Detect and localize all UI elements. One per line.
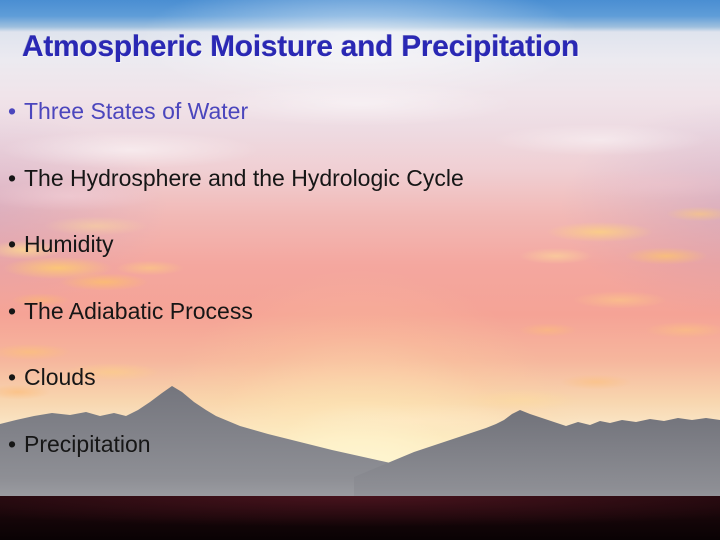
- bullet-item-humidity[interactable]: • Humidity: [0, 229, 720, 296]
- bullet-list: • Three States of Water • The Hydrospher…: [0, 96, 720, 495]
- bullet-label: The Hydrosphere and the Hydrologic Cycle: [24, 163, 464, 193]
- bullet-label: Clouds: [24, 362, 96, 392]
- foreground-band: [0, 496, 720, 540]
- foreground-glow: [0, 496, 720, 540]
- bullet-glyph-icon: •: [8, 296, 16, 326]
- presentation-slide: Atmospheric Moisture and Precipitation •…: [0, 0, 720, 540]
- bullet-label: Precipitation: [24, 429, 151, 459]
- slide-title: Atmospheric Moisture and Precipitation: [22, 30, 712, 64]
- bullet-item-clouds[interactable]: • Clouds: [0, 362, 720, 429]
- bullet-glyph-icon: •: [8, 429, 16, 459]
- bullet-label: Three States of Water: [24, 96, 248, 126]
- bullet-item-three-states-of-water[interactable]: • Three States of Water: [0, 96, 720, 163]
- bullet-item-precipitation[interactable]: • Precipitation: [0, 429, 720, 496]
- bullet-glyph-icon: •: [8, 96, 16, 126]
- bullet-glyph-icon: •: [8, 163, 16, 193]
- bullet-glyph-icon: •: [8, 229, 16, 259]
- bullet-label: Humidity: [24, 229, 113, 259]
- bullet-item-hydrosphere-hydrologic-cycle[interactable]: • The Hydrosphere and the Hydrologic Cyc…: [0, 163, 720, 230]
- bullet-label: The Adiabatic Process: [24, 296, 253, 326]
- bullet-glyph-icon: •: [8, 362, 16, 392]
- bullet-item-adiabatic-process[interactable]: • The Adiabatic Process: [0, 296, 720, 363]
